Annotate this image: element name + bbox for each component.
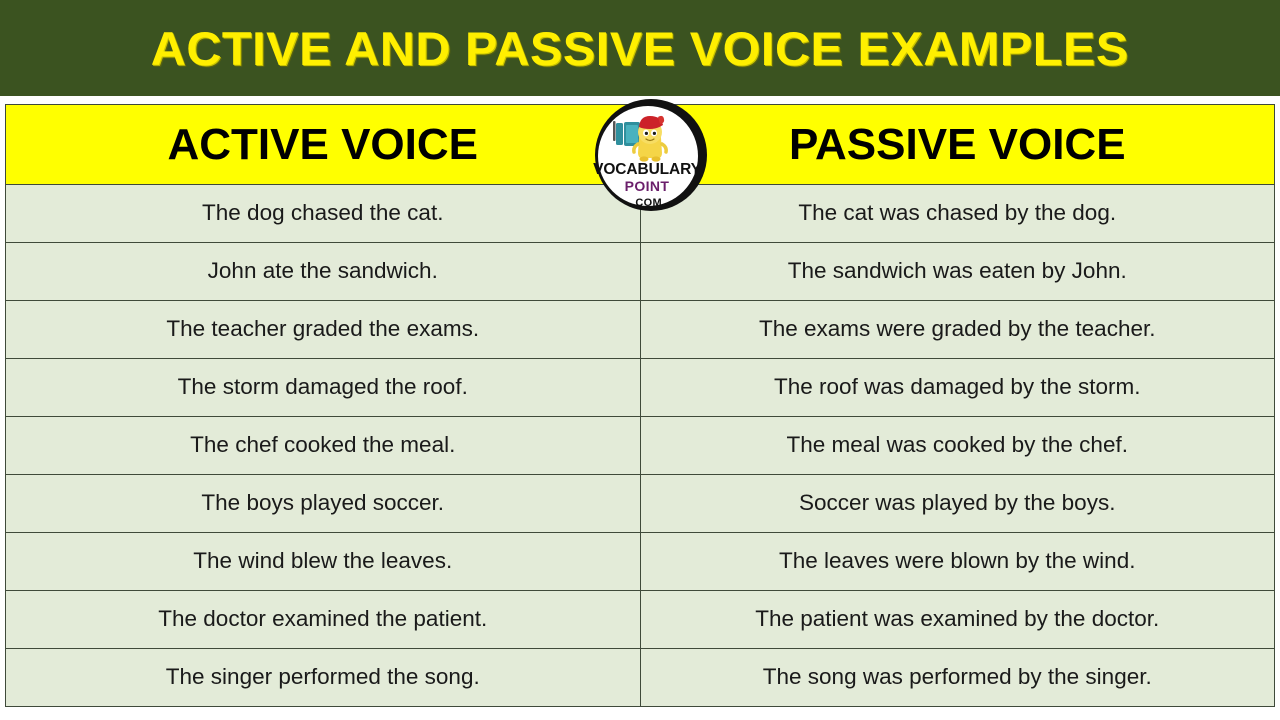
- poster-root: ACTIVE AND PASSIVE VOICE EXAMPLES ACTIVE…: [0, 0, 1280, 720]
- cell-active-voice: The storm damaged the roof.: [6, 359, 641, 417]
- cell-active-voice: John ate the sandwich.: [6, 243, 641, 301]
- table-row: The wind blew the leaves.The leaves were…: [6, 533, 1275, 591]
- table-row: John ate the sandwich.The sandwich was e…: [6, 243, 1275, 301]
- logo-line-point: POINT: [625, 178, 670, 194]
- cell-active-voice: The boys played soccer.: [6, 475, 641, 533]
- table-row: The doctor examined the patient.The pati…: [6, 591, 1275, 649]
- cell-active-voice: The chef cooked the meal.: [6, 417, 641, 475]
- logo-line-com: .COM: [632, 197, 662, 209]
- cell-passive-voice: The sandwich was eaten by John.: [640, 243, 1275, 301]
- cell-active-voice: The teacher graded the exams.: [6, 301, 641, 359]
- cell-passive-voice: The leaves were blown by the wind.: [640, 533, 1275, 591]
- cell-passive-voice: Soccer was played by the boys.: [640, 475, 1275, 533]
- logo-line-vocabulary: VOCABULARY: [593, 161, 702, 178]
- cell-passive-voice: The exams were graded by the teacher.: [640, 301, 1275, 359]
- cell-passive-voice: The meal was cooked by the chef.: [640, 417, 1275, 475]
- page-title: ACTIVE AND PASSIVE VOICE EXAMPLES: [151, 25, 1129, 72]
- cell-active-voice: The singer performed the song.: [6, 649, 641, 707]
- cell-active-voice: The wind blew the leaves.: [6, 533, 641, 591]
- cell-passive-voice: The patient was examined by the doctor.: [640, 591, 1275, 649]
- column-header-active: ACTIVE VOICE: [6, 105, 641, 185]
- column-header-passive: PASSIVE VOICE: [640, 105, 1275, 185]
- book-icon: [613, 121, 640, 146]
- vocabulary-point-logo[interactable]: VOCABULARY POINT .COM: [592, 96, 710, 214]
- cell-active-voice: The doctor examined the patient.: [6, 591, 641, 649]
- table-row: The teacher graded the exams.The exams w…: [6, 301, 1275, 359]
- title-banner: ACTIVE AND PASSIVE VOICE EXAMPLES: [0, 0, 1280, 96]
- cell-passive-voice: The song was performed by the singer.: [640, 649, 1275, 707]
- cell-active-voice: The dog chased the cat.: [6, 185, 641, 243]
- table-row: The storm damaged the roof.The roof was …: [6, 359, 1275, 417]
- cell-passive-voice: The roof was damaged by the storm.: [640, 359, 1275, 417]
- table-row: The boys played soccer.Soccer was played…: [6, 475, 1275, 533]
- cell-passive-voice: The cat was chased by the dog.: [640, 185, 1275, 243]
- table-row: The singer performed the song.The song w…: [6, 649, 1275, 707]
- table-row: The chef cooked the meal.The meal was co…: [6, 417, 1275, 475]
- table-body: The dog chased the cat.The cat was chase…: [6, 185, 1275, 707]
